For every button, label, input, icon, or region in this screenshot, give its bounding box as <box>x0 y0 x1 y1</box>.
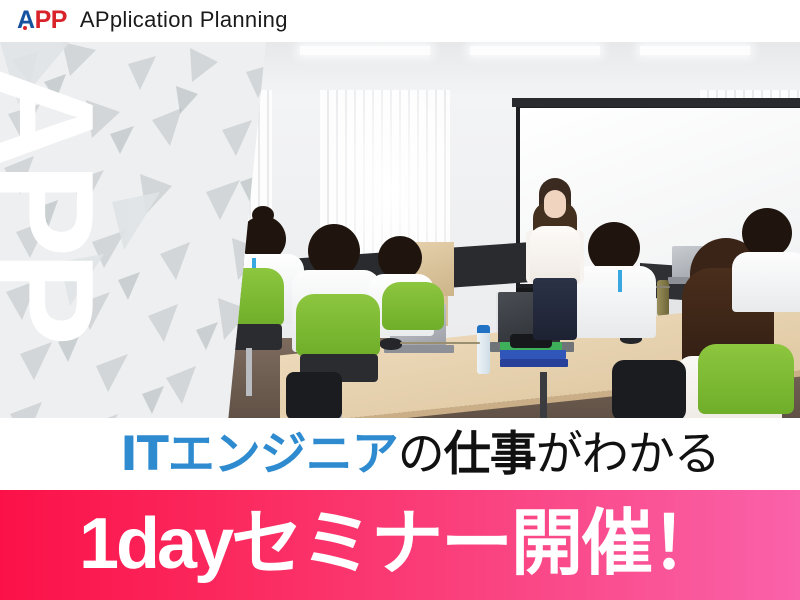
caption-text: ITエンジニアの仕事がわかる <box>80 431 720 478</box>
logo-letters-pp: PP <box>35 6 67 34</box>
chair-green-3 <box>382 282 444 330</box>
presenter-skirt <box>533 278 577 340</box>
pink-banner-latin: 1day <box>79 504 231 584</box>
water-bottle-cap <box>477 325 490 333</box>
pink-cta-banner: 1dayセミナー開催！ <box>0 490 800 600</box>
mouse-front-left <box>380 338 402 350</box>
promo-banner: APP APplication Planning <box>0 0 800 600</box>
pink-banner-japanese: セミナー開催！ <box>231 501 721 585</box>
chair-green-4 <box>698 344 794 414</box>
student-shirt <box>574 266 656 338</box>
table-leg-2 <box>540 372 547 422</box>
backpack <box>286 372 342 420</box>
bag-right <box>612 360 686 422</box>
caption-segment-bold: 仕事 <box>444 427 536 482</box>
water-bottle <box>477 330 490 374</box>
presenter-face <box>544 190 566 218</box>
ceiling-light-3 <box>640 46 750 55</box>
app-logo-mark: APP <box>17 8 67 33</box>
pink-banner-text: 1dayセミナー開催！ <box>79 507 721 580</box>
blue-notebook-2 <box>500 359 568 367</box>
caption-band: ITエンジニアの仕事がわかる <box>0 418 800 490</box>
student-lanyard <box>618 270 622 292</box>
caption-segment-tail: がわかる <box>536 427 720 482</box>
caption-segment-blue: ITエンジニア <box>120 427 398 482</box>
projector-screen-top-roller <box>512 98 800 107</box>
ceiling-light-2 <box>470 46 600 55</box>
student-head <box>742 208 792 258</box>
cable-front-1 <box>400 342 480 344</box>
caption-segment-no: の <box>398 427 444 482</box>
blue-notebook-1 <box>500 350 566 359</box>
chair-post-1 <box>246 348 252 396</box>
presenter-blouse <box>530 226 580 284</box>
logo-wordmark: APplication Planning <box>80 9 288 31</box>
ceiling-light-1 <box>300 46 430 55</box>
header-bar: APP APplication Planning <box>0 0 800 42</box>
chair-green-2 <box>296 294 380 356</box>
student-shirt <box>732 252 800 312</box>
logo-letter-a: A <box>17 8 35 33</box>
